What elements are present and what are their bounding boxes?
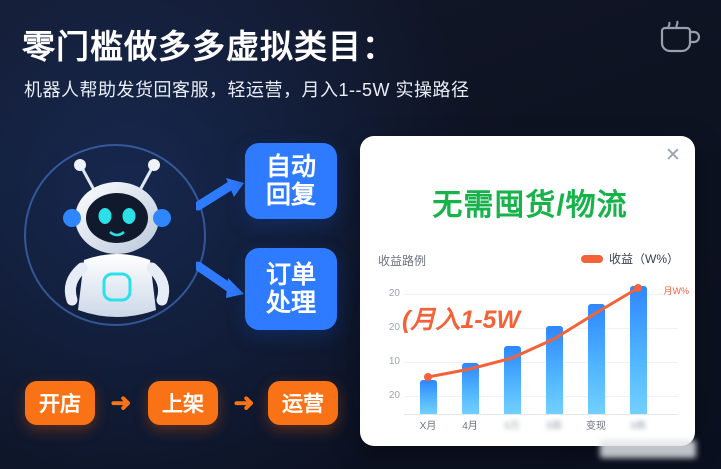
x-tick-2: 4月 [450,417,490,432]
arrow-to-order-processing [196,258,248,300]
x-tick-1: X月 [408,417,448,432]
x-tick-3: 5万 [492,417,532,432]
trend-point-label: 月W% [664,284,690,297]
x-tick-6: 5俐 [618,417,658,432]
robot-mascot [52,156,182,328]
x-tick-5: 变现 [576,417,616,432]
pill-list-product[interactable]: 上架 [148,381,218,425]
legend-swatch-icon [581,255,603,263]
blurred-watermark [600,440,696,458]
callout-order-line2: 处理 [266,289,316,317]
callout-order-line1: 订单 [266,261,316,289]
callout-order-processing[interactable]: 订单 处理 [245,248,337,330]
callout-auto-reply[interactable]: 自动 回复 [245,143,337,219]
info-card: ✕ 无需囤货/物流 收益路例 收益（W%） 20 20 10 20 X月 [360,136,695,446]
robot-illustration [18,130,208,345]
pill-arrow-1: ➜ [103,392,139,414]
card-title: 无需囤货/物流 [390,180,670,224]
callout-auto-reply-line2: 回复 [266,181,316,209]
cup-icon [655,18,703,58]
pill-open-shop[interactable]: 开店 [25,381,95,425]
pill-arrow-2: ➜ [226,392,262,414]
callout-auto-reply-line1: 自动 [266,153,316,181]
close-icon[interactable]: ✕ [663,146,683,166]
pill-operations[interactable]: 运营 [268,381,338,425]
page-title: 零门槛做多多虚拟类目： [22,20,396,68]
chart-annotation: (月入1-5W [402,300,520,336]
page-subtitle: 机器人帮助发货回客服，轻运营，月入1--5W 实操路径 [24,76,470,102]
arrow-to-auto-reply [196,178,248,212]
x-tick-4: 5侧 [534,417,574,432]
chart-legend-left: 收益路例 [378,252,426,269]
chart-legend-right: 收益（W%） [581,250,679,267]
legend-right-label: 收益（W%） [609,250,679,267]
